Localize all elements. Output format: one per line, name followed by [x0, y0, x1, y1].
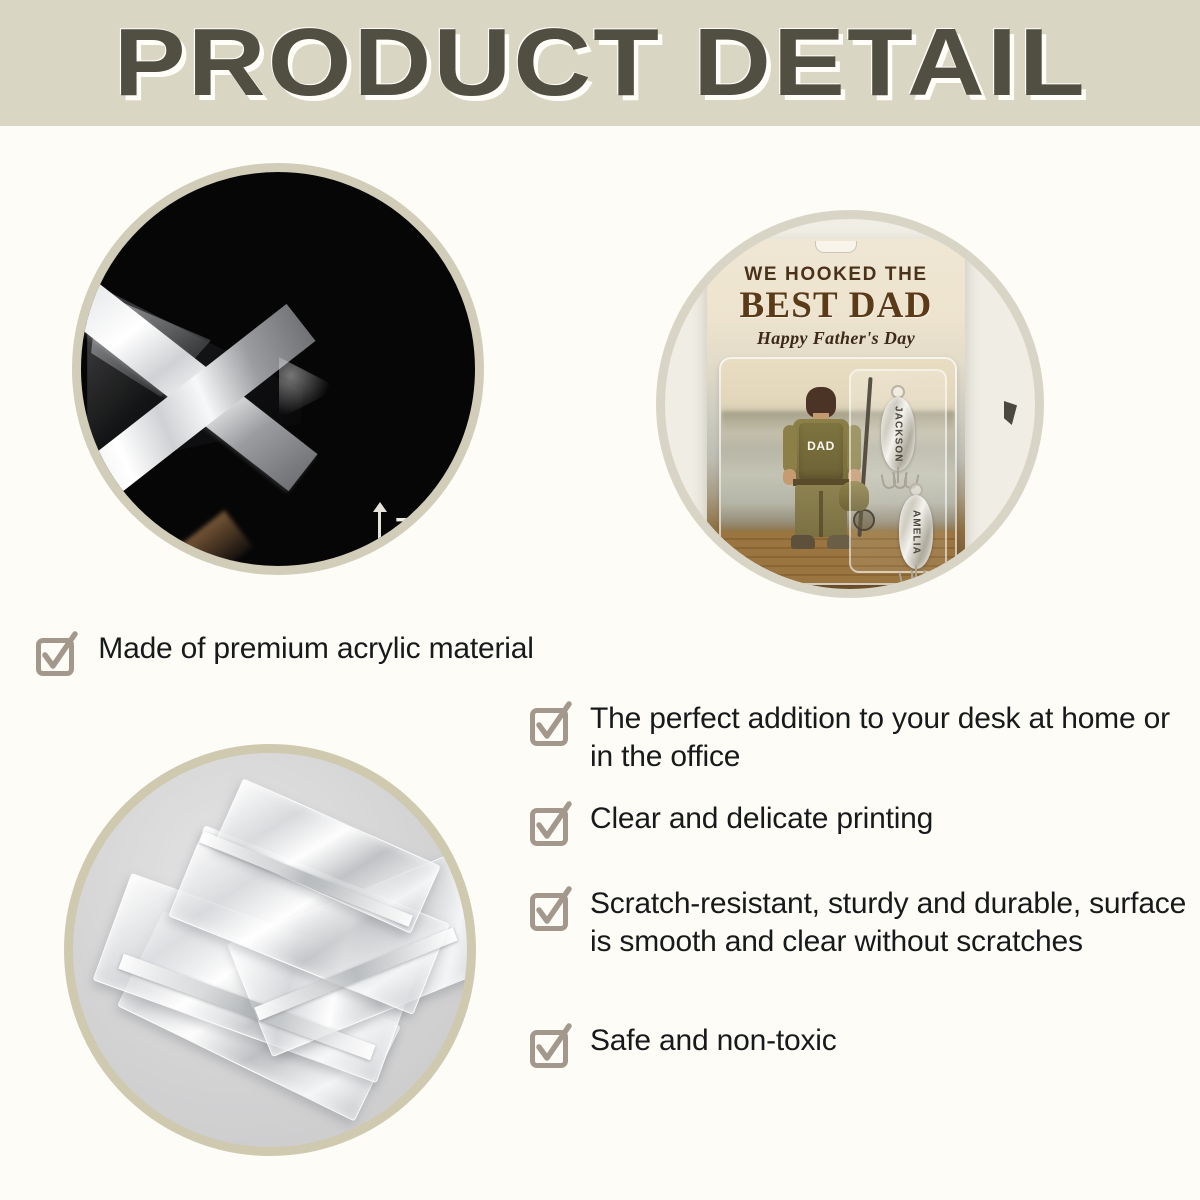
lure-sub-tray: JACKSON AMELIA [849, 369, 947, 573]
figure-arm-left [783, 425, 797, 473]
card-headline: WE HOOKED THE BEST DAD Happy Father's Da… [707, 265, 965, 347]
feature-label: Clear and delicate printing [590, 800, 933, 838]
lure-engraved-name: AMELIA [911, 510, 922, 555]
feature-item: The perfect addition to your desk at hom… [528, 700, 1198, 776]
lure-engraved-name: JACKSON [893, 406, 904, 463]
feature-label: Made of premium acrylic material [96, 630, 536, 668]
card-subtitle: Happy Father's Day [707, 329, 965, 347]
thickness-label-line1: Thickness [396, 509, 484, 549]
feature-item: Clear and delicate printing [528, 800, 1198, 848]
checkbox-checked-icon [528, 702, 574, 748]
card-title-line1: WE HOOKED THE [707, 265, 965, 284]
acrylic-sheets-photo [64, 744, 476, 1156]
thickness-arrow-icon [371, 502, 389, 575]
acrylic-warm-reflection [177, 510, 253, 575]
feature-item: Safe and non-toxic [528, 1022, 1198, 1070]
product-card: WE HOOKED THE BEST DAD Happy Father's Da… [707, 239, 965, 594]
package-notch [1004, 401, 1017, 425]
thickness-photo: Thickness 0.55 in [72, 163, 484, 575]
product-photo: WE HOOKED THE BEST DAD Happy Father's Da… [656, 210, 1044, 598]
lure-spoon-body: AMELIA [899, 495, 933, 569]
acrylic-corner-tip [279, 357, 339, 419]
page-title: PRODUCT DETAIL [113, 15, 1086, 111]
page-header: PRODUCT DETAIL [0, 0, 1200, 126]
lure-spoon-body: JACKSON [881, 397, 915, 471]
feature-label: Safe and non-toxic [590, 1022, 837, 1060]
checkbox-checked-icon [34, 632, 80, 678]
treble-hook-icon [899, 565, 933, 585]
thickness-label-line2: 0.55 in [396, 549, 484, 575]
feature-item: Made of premium acrylic material [34, 630, 554, 678]
acrylic-edge-illustration [81, 172, 475, 566]
hang-hole-icon [815, 241, 857, 253]
checkbox-checked-icon [528, 802, 574, 848]
checkbox-checked-icon [528, 887, 574, 933]
checkbox-checked-icon [528, 1024, 574, 1070]
feature-label: The perfect addition to your desk at hom… [590, 700, 1198, 776]
card-title-line2: BEST DAD [707, 287, 965, 324]
figure-name-label: DAD [799, 439, 843, 453]
figure-boot-right [827, 535, 851, 549]
blister-tray: DAD JACKSON [719, 357, 957, 585]
feature-item: Scratch-resistant, sturdy and durable, s… [528, 885, 1198, 961]
feature-label: Scratch-resistant, sturdy and durable, s… [590, 885, 1198, 961]
figure-boot-left [791, 535, 815, 549]
thickness-label: Thickness 0.55 in [396, 509, 484, 575]
